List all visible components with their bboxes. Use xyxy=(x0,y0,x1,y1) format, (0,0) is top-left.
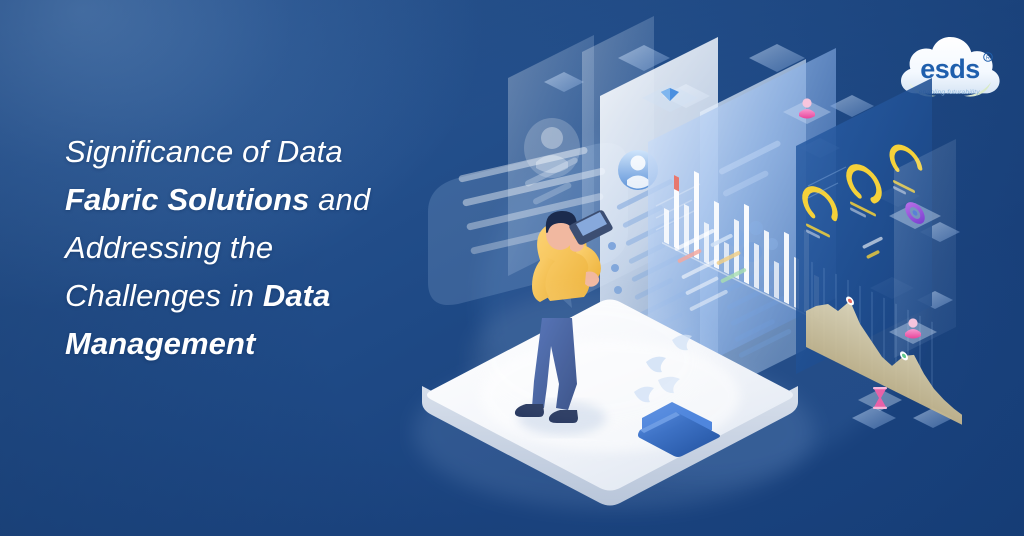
headline-line-3-plain: Addressing the xyxy=(65,230,273,265)
bar-chart-highlight xyxy=(674,175,679,191)
headline-line-4-plain: Challenges in xyxy=(65,278,263,313)
promo-banner: esds R enabling futurability. Significan… xyxy=(0,0,1024,536)
headline-line-4-bold: Data xyxy=(263,278,331,313)
headline-line-1-plain: Significance of Data xyxy=(65,134,343,169)
headline-line-5-bold: Management xyxy=(65,326,255,361)
isometric-illustration xyxy=(400,0,1024,536)
headline-line-2-bold: Fabric Solutions xyxy=(65,182,309,217)
headline-line-2-plain: and xyxy=(309,182,370,217)
